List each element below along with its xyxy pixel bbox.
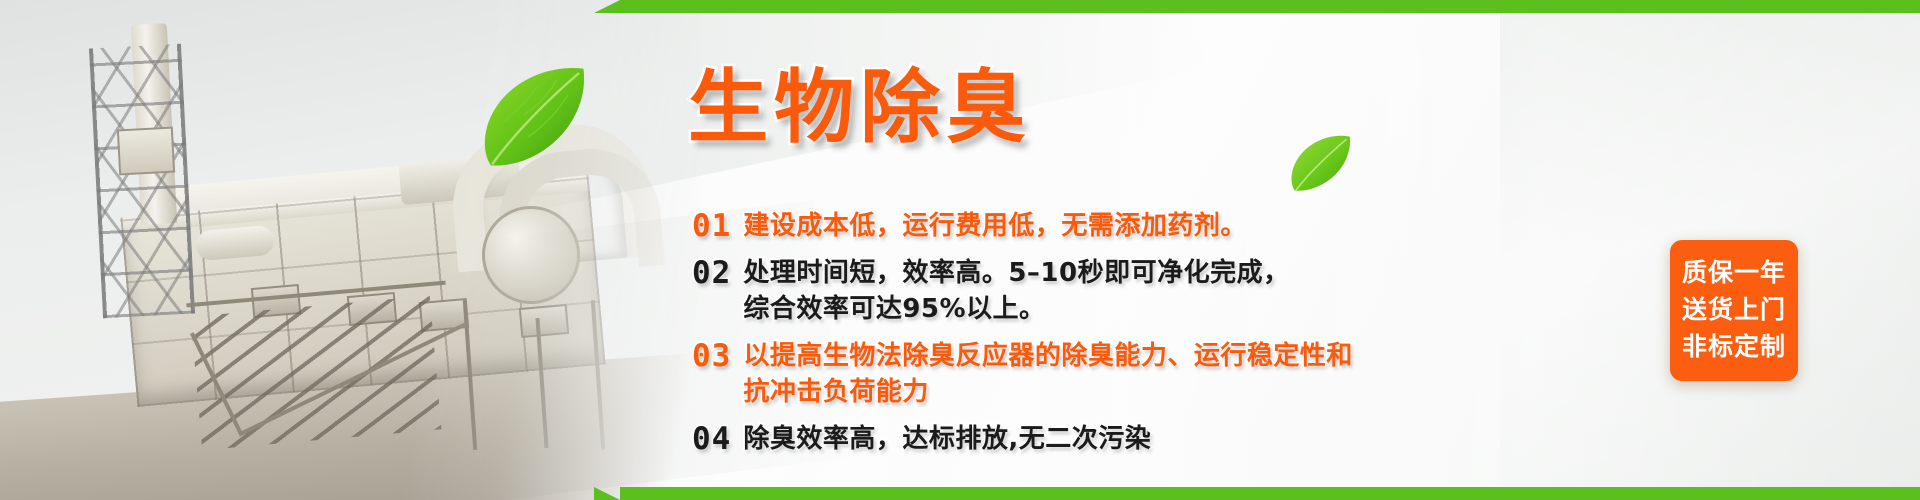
feature-number: 02 bbox=[692, 255, 731, 291]
banner-title: 生物除臭 bbox=[688, 68, 1032, 148]
guarantee-badge: 质保一年 送货上门 非标定制 bbox=[1670, 240, 1798, 381]
feature-item: 02 处理时间短，效率高。5–10秒即可净化完成， 综合效率可达95%以上。 bbox=[692, 255, 1572, 327]
feature-item: 01 建设成本低，运行费用低，无需添加药剂。 bbox=[692, 208, 1572, 244]
feature-text: 建设成本低，运行费用低，无需添加药剂。 bbox=[743, 208, 1247, 244]
banner-content: 生物除臭 01 建设成本低，运行费用低，无需添加药剂。 02 处理时间短，效率高… bbox=[688, 0, 1588, 500]
badge-line-custom: 非标定制 bbox=[1670, 328, 1798, 365]
feature-item: 04 除臭效率高，达标排放,无二次污染 bbox=[692, 421, 1572, 457]
promo-banner: 生物除臭 01 建设成本低，运行费用低，无需添加药剂。 02 处理时间短，效率高… bbox=[0, 0, 1920, 500]
feature-text-line2: 综合效率可达95%以上。 bbox=[743, 291, 1289, 327]
feature-text-line1: 除臭效率高，达标排放,无二次污染 bbox=[743, 424, 1151, 454]
feature-text-line2: 抗冲击负荷能力 bbox=[743, 374, 1353, 410]
photo-tower-platform-box bbox=[117, 127, 175, 176]
feature-item: 03 以提高生物法除臭反应器的除臭能力、运行稳定性和 抗冲击负荷能力 bbox=[692, 338, 1572, 410]
feature-text: 以提高生物法除臭反应器的除臭能力、运行稳定性和 抗冲击负荷能力 bbox=[743, 338, 1353, 410]
equipment-photo bbox=[0, 0, 700, 500]
photo-support-tower bbox=[89, 44, 195, 318]
feature-number: 03 bbox=[692, 338, 731, 374]
badge-line-warranty: 质保一年 bbox=[1670, 254, 1798, 291]
badge-line-delivery: 送货上门 bbox=[1670, 291, 1798, 328]
photo-fade-mask bbox=[0, 0, 700, 500]
feature-number: 01 bbox=[692, 208, 731, 244]
feature-text-line1: 以提高生物法除臭反应器的除臭能力、运行稳定性和 bbox=[743, 341, 1353, 371]
feature-text-line1: 处理时间短，效率高。5–10秒即可净化完成， bbox=[743, 258, 1289, 288]
feature-text: 除臭效率高，达标排放,无二次污染 bbox=[743, 421, 1151, 457]
feature-list: 01 建设成本低，运行费用低，无需添加药剂。 02 处理时间短，效率高。5–10… bbox=[692, 208, 1572, 468]
feature-number: 04 bbox=[692, 421, 731, 457]
photo-access-hatch bbox=[519, 304, 569, 338]
feature-text: 处理时间短，效率高。5–10秒即可净化完成， 综合效率可达95%以上。 bbox=[743, 255, 1289, 327]
leaf-icon bbox=[480, 62, 590, 172]
feature-text-line1: 建设成本低，运行费用低，无需添加药剂。 bbox=[743, 211, 1247, 241]
